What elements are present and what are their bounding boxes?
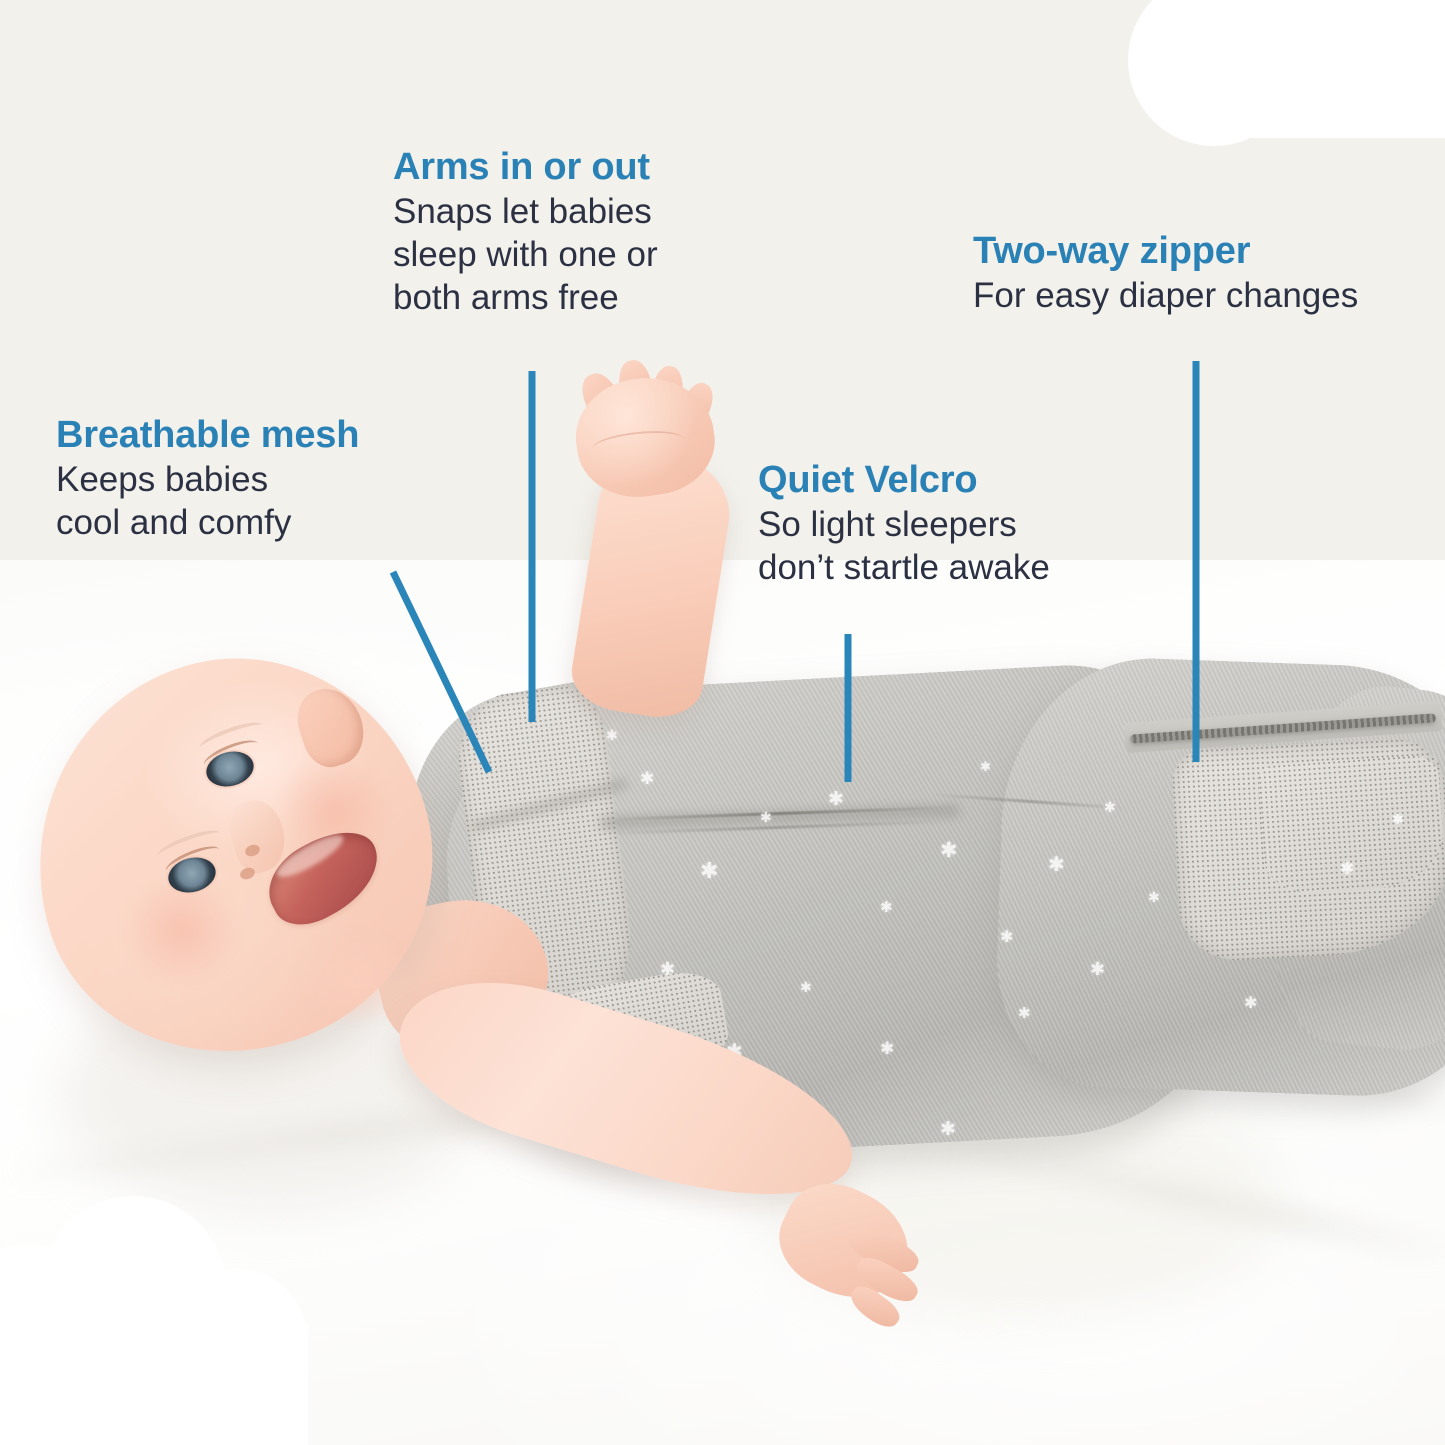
callout-body-quiet-velcro: So light sleepers don’t startle awake [758,503,1128,589]
callout-body-line: Keeps babies [56,460,268,499]
callout-body-breathable-mesh: Keeps babies cool and comfy [56,458,486,544]
callout-two-way-zipper: Two-way zipper For easy diaper changes [973,232,1443,317]
callout-arms-in-or-out: Arms in or out Snaps let babies sleep wi… [393,148,733,319]
infographic-canvas: ✱ ✱ ✱ ✱ ✱ ✱ ✱ ✱ ✱ ✱ ✱ ✱ ✱ ✱ ✱ ✱ ✱ ✱ ✱ ✱ … [0,0,1445,1445]
callout-body-line: Snaps let babies [393,192,652,231]
callout-title-two-way-zipper: Two-way zipper [973,232,1443,272]
callout-body-arms-in-or-out: Snaps let babies sleep with one or both … [393,190,733,319]
callout-body-line: sleep with one or [393,235,658,274]
callout-body-line: don’t startle awake [758,548,1050,587]
leader-line-breathable-mesh [393,572,489,772]
callout-title-arms-in-or-out: Arms in or out [393,148,733,188]
callout-breathable-mesh: Breathable mesh Keeps babies cool and co… [56,416,486,544]
callout-body-line: So light sleepers [758,505,1017,544]
callout-quiet-velcro: Quiet Velcro So light sleepers don’t sta… [758,461,1128,589]
callout-body-line: both arms free [393,278,619,317]
callout-body-line: cool and comfy [56,503,291,542]
callout-title-breathable-mesh: Breathable mesh [56,416,486,456]
callout-body-two-way-zipper: For easy diaper changes [973,274,1443,317]
callout-title-quiet-velcro: Quiet Velcro [758,461,1128,501]
callout-body-line: For easy diaper changes [973,276,1358,315]
